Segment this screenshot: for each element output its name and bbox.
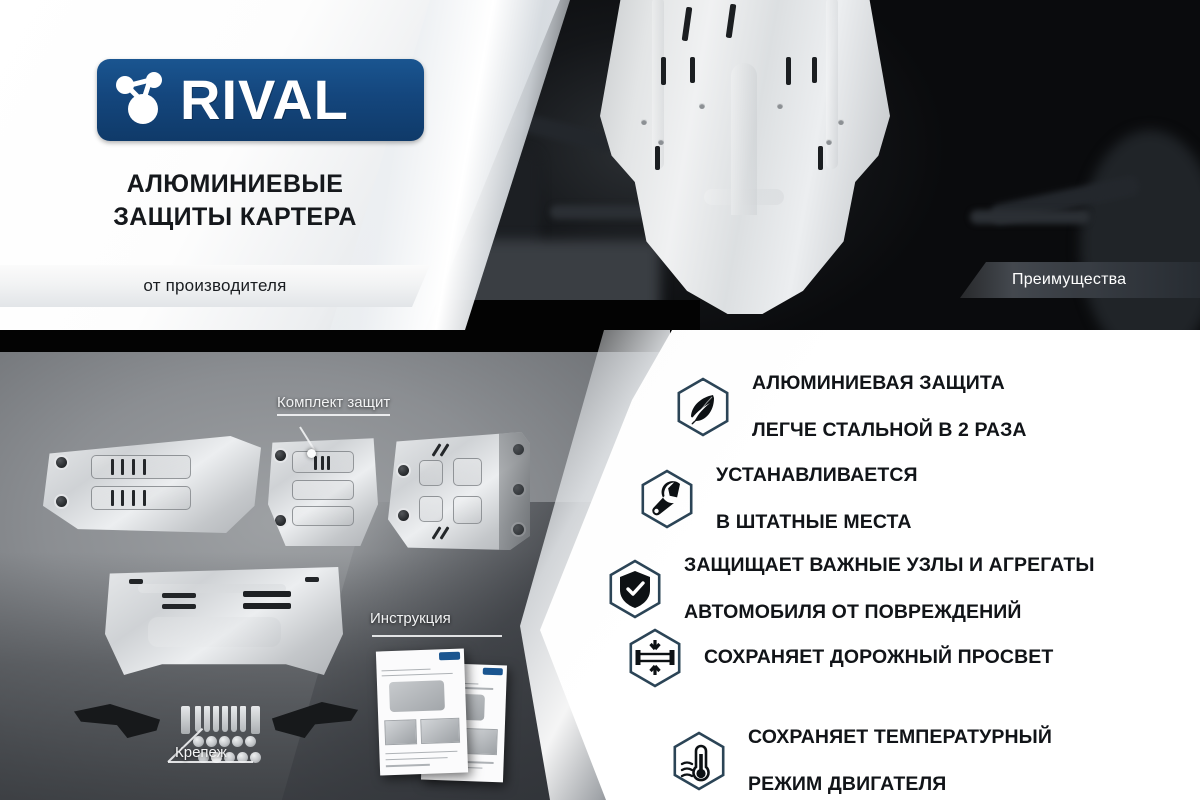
hardware-washer: [245, 736, 256, 747]
tab-advantages[interactable]: Преимущества: [960, 262, 1200, 298]
hardware-bolt: [204, 706, 210, 732]
hardware-spacer-right: [251, 706, 260, 734]
hardware-bolt: [240, 706, 246, 732]
clearance-icon: [624, 627, 686, 689]
wrench-icon: [636, 468, 698, 530]
brand-name: RIVAL: [180, 72, 349, 128]
brand-logo[interactable]: RIVAL: [97, 59, 424, 141]
hardware-bolt: [222, 706, 228, 732]
callout-instructions-leader: [372, 635, 502, 637]
tab-advantages-label: Преимущества: [1012, 271, 1126, 289]
callout-kit-dot: [307, 449, 316, 458]
benefit-text-clearance: СОХРАНЯЕТ ДОРОЖНЫЙ ПРОСВЕТ: [704, 622, 1053, 693]
thermometer-icon: [668, 730, 730, 792]
skid-plate-c: [388, 432, 530, 550]
benefit-line1: АЛЮМИНИЕВАЯ ЗАЩИТА: [752, 372, 1027, 396]
benefit-line2: РЕЖИМ ДВИГАТЕЛЯ: [748, 773, 1052, 797]
benefit-line1: УСТАНАВЛИВАЕТСЯ: [716, 464, 918, 488]
sheet-brand-logo: [483, 668, 503, 676]
photo-chassis-rail: [970, 210, 1090, 224]
callout-instructions-label: Инструкция: [370, 610, 451, 627]
hardware-washer: [232, 736, 243, 747]
subtitle-text: от производителя: [143, 276, 286, 296]
instruction-sheet-front: [376, 649, 468, 776]
vehicle-underbody-photo: Преимущества: [430, 0, 1200, 330]
hardware-spacer-left: [181, 706, 190, 734]
benefit-line1: СОХРАНЯЕТ ДОРОЖНЫЙ ПРОСВЕТ: [704, 646, 1053, 670]
hardware-bolt: [213, 706, 219, 732]
leaf-icon: [672, 376, 734, 438]
benefit-line1: СОХРАНЯЕТ ТЕМПЕРАТУРНЫЙ: [748, 726, 1052, 750]
skid-plate-large: [105, 567, 343, 675]
sheet-brand-logo: [438, 652, 459, 660]
photo-tire-right: [1080, 130, 1200, 330]
shield-check-icon: [604, 558, 666, 620]
callout-hardware-leader-h: [168, 761, 253, 763]
benefit-item-temperature: СОХРАНЯЕТ ТЕМПЕРАТУРНЫЙ РЕЖИМ ДВИГАТЕЛЯ: [668, 702, 1052, 800]
skid-plate-a: [43, 436, 261, 533]
subtitle-band: от производителя: [0, 265, 430, 307]
benefit-text-temperature: СОХРАНЯЕТ ТЕМПЕРАТУРНЫЙ РЕЖИМ ДВИГАТЕЛЯ: [748, 702, 1052, 800]
poster-root: Преимущества RIVAL АЛЮМИНИЕВЫЕ ЗАЩИТЫ КА…: [0, 0, 1200, 800]
callout-hardware-label: Крепеж: [175, 744, 227, 761]
benefit-item-clearance: СОХРАНЯЕТ ДОРОЖНЫЙ ПРОСВЕТ: [624, 622, 1053, 693]
page-title-line1: АЛЮМИНИЕВЫЕ: [0, 168, 470, 201]
molecule-icon: [110, 69, 184, 131]
callout-kit-label: Комплект защит: [277, 394, 390, 416]
page-title-line2: ЗАЩИТЫ КАРТЕРА: [0, 201, 470, 234]
benefit-line1: ЗАЩИЩАЕТ ВАЖНЫЕ УЗЛЫ И АГРЕГАТЫ: [684, 554, 1095, 578]
page-title: АЛЮМИНИЕВЫЕ ЗАЩИТЫ КАРТЕРА: [0, 168, 470, 234]
skid-plate-b: [268, 436, 378, 546]
hardware-bolt: [231, 706, 237, 732]
